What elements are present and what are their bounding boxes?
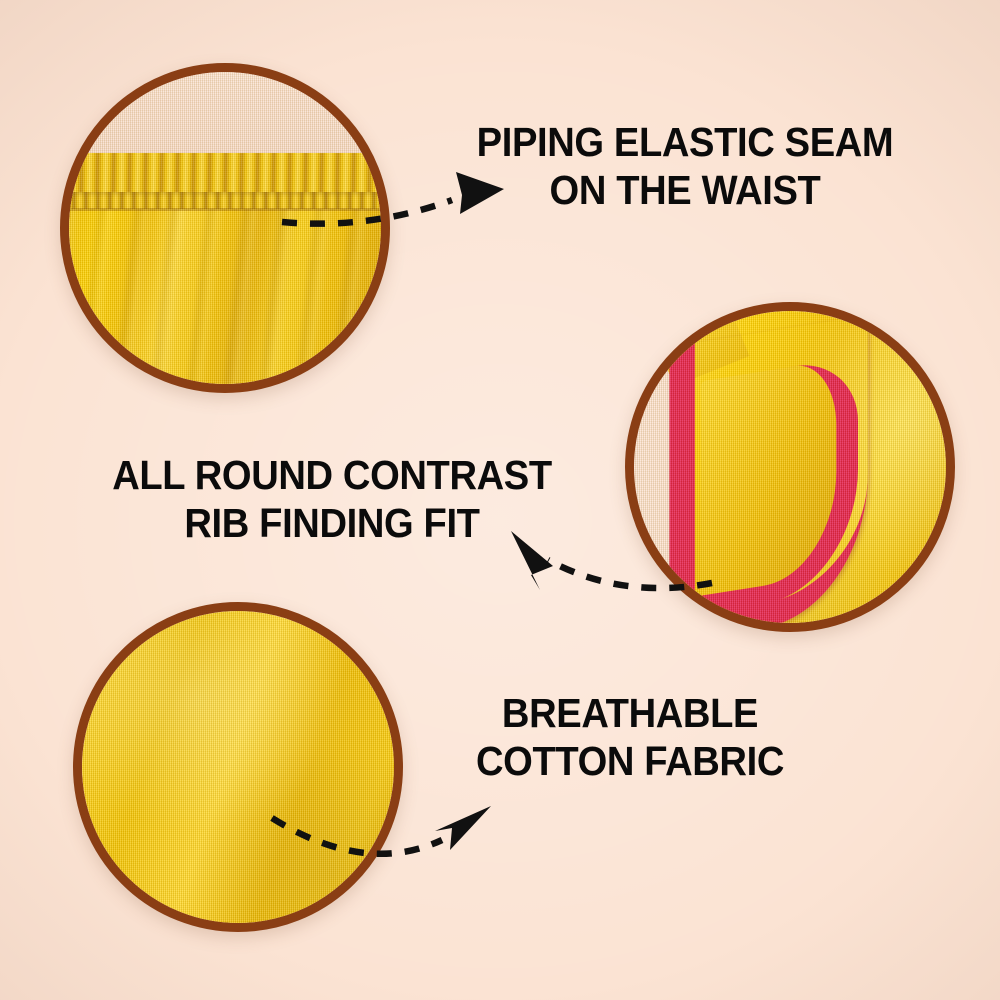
cotton-fabric-swatch — [82, 611, 394, 923]
waist-backdrop — [69, 72, 381, 159]
waist-photo — [69, 72, 381, 384]
callout-label-waist: PIPING ELASTIC SEAM ON THE WAIST — [439, 119, 932, 214]
infographic-canvas: PIPING ELASTIC SEAM ON THE WAIST ALL ROU… — [0, 0, 1000, 1000]
callout-image-waist — [60, 63, 390, 393]
waist-elastic-seam-band — [69, 192, 381, 209]
callout-image-rib — [625, 302, 955, 632]
waist-stitch-line — [69, 208, 381, 211]
rib-photo — [634, 311, 946, 623]
cotton-photo — [82, 611, 394, 923]
callout-image-cotton — [73, 602, 403, 932]
callout-label-rib: ALL ROUND CONTRAST RIB FINDING FIT — [90, 452, 574, 547]
callout-label-cotton: BREATHABLE COTTON FABRIC — [435, 690, 826, 785]
